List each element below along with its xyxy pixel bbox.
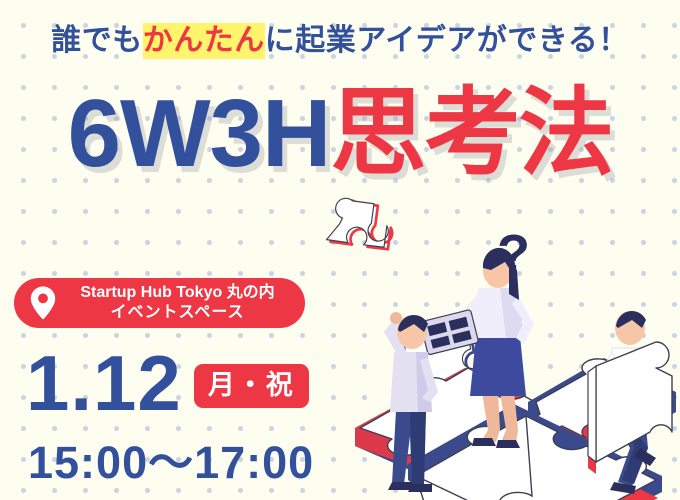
tagline: 誰でもかんたんに起業アイデアができる！ [0,26,680,56]
floating-puzzle-piece-red [316,196,397,266]
venue-line1: Startup Hub Tokyo 丸の内 [80,284,274,301]
day-of-week-badge: 月・祝 [194,364,309,408]
page-title: 6W3H思考法 [0,86,680,182]
venue-badge: Startup Hub Tokyo 丸の内 イベントスペース [14,278,305,328]
location-pin-icon [30,286,56,320]
date-row: 1.12 月・祝 [26,352,309,416]
title-red-part: 思考法 [330,80,612,187]
tagline-highlight: かんたん [143,23,265,59]
venue-text: Startup Hub Tokyo 丸の内 イベントスペース [60,283,305,323]
title-blue-part: 6W3H [68,80,331,187]
event-time: 15:00〜17:00 [28,440,314,485]
event-date: 1.12 [26,352,182,416]
venue-line2: イベントスペース [60,303,295,323]
tagline-part1: 誰でも [51,24,143,57]
tagline-part2: に起業アイデアができる！ [265,24,629,57]
event-banner: 誰でもかんたんに起業アイデアができる！ 6W3H思考法 Startup Hub … [0,0,680,500]
isometric-puzzle-teamwork-illustration: ? [300,196,680,500]
